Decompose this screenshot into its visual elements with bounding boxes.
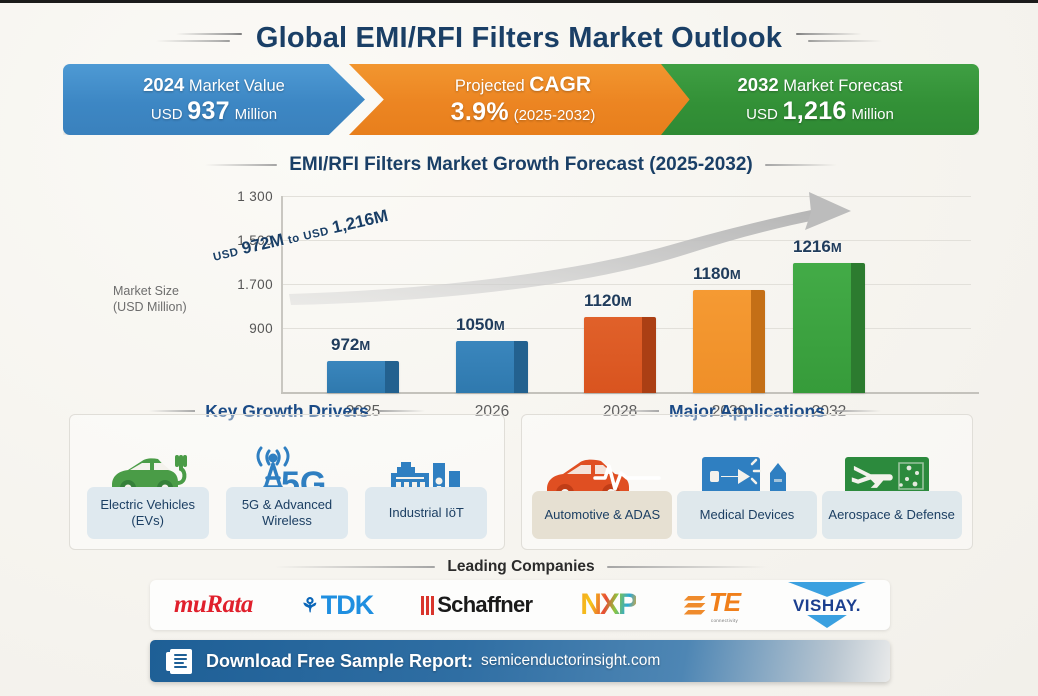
kpi-value-row: USD 937 Million: [151, 98, 277, 124]
tdk-mark-icon: ⚘: [301, 593, 319, 618]
chart-bars: 972M 2025 1050M 2026 1120M: [281, 186, 979, 395]
kpi-heading-rest: Market Forecast: [779, 77, 903, 95]
driver-label-line2: Wireless: [262, 513, 312, 528]
driver-item-5g-wireless[interactable]: 5G 5G & Advanced Wireless: [226, 441, 348, 539]
kpi-heading-prefix: Projected: [455, 77, 529, 95]
te-wordmark: TE: [709, 587, 740, 618]
applications-box: Automotive & ADAS: [521, 414, 973, 550]
kpi-heading: 2032 Market Forecast: [738, 75, 903, 95]
bar-face: [584, 317, 642, 393]
kpi-year: 2024: [143, 74, 184, 95]
panel-rule-right: [379, 410, 425, 412]
bar-value: 1216: [793, 237, 831, 256]
vishay-triangle-top-icon: [788, 582, 866, 597]
te-chevron-icon: [684, 596, 706, 615]
chart-heading-row: EMI/RFI Filters Market Growth Forecast (…: [63, 150, 979, 180]
bar-face: [693, 290, 751, 393]
panels-row: Key Growth Drivers: [63, 398, 979, 550]
leading-companies-heading: Leading Companies: [447, 558, 594, 576]
panel-rule-left: [613, 410, 659, 412]
vishay-logo[interactable]: VISHAY.: [788, 582, 866, 628]
page-title: Global EMI/RFI Filters Market Outlook: [256, 22, 782, 55]
kpi-unit: Million: [235, 106, 278, 123]
company-logo-strip: muRata ⚘ TDK Schaffner NXP TE connectivi…: [150, 580, 890, 630]
driver-label: 5G & Advanced Wireless: [226, 487, 348, 539]
kpi-value: 937: [187, 97, 230, 125]
bar-value: 1050: [456, 315, 494, 334]
kpi-banner: 2024 Market Value USD 937 Million Projec…: [63, 64, 979, 135]
key-growth-drivers-panel: Key Growth Drivers: [63, 398, 511, 550]
application-label-line1: Automotive & ADAS: [545, 507, 661, 523]
nxp-logo[interactable]: NXP: [580, 582, 636, 628]
bar-side: [385, 361, 399, 393]
bar-2032: 1216M 2032: [793, 263, 865, 393]
panel-rule-left: [149, 410, 195, 412]
bar-2030: 1180M 2030: [693, 290, 765, 393]
y-tick-label: 1 300: [201, 189, 273, 204]
application-label: Medical Devices: [677, 491, 817, 539]
tdk-logo[interactable]: ⚘ TDK: [301, 582, 373, 628]
bar-side: [851, 263, 865, 393]
chart-heading-rule-left: [205, 164, 277, 166]
te-subtext: connectivity: [711, 618, 738, 623]
kpi-heading-rest: Market Value: [184, 77, 285, 95]
panel-rule-right: [835, 410, 881, 412]
bar-2025: 972M 2025: [327, 361, 399, 393]
driver-label-line1: Industrial IöT: [389, 505, 464, 521]
bar-side: [642, 317, 656, 393]
application-item-automotive-adas[interactable]: Automotive & ADAS: [532, 445, 672, 539]
application-label: Automotive & ADAS: [532, 491, 672, 539]
kpi-heading: 2024 Market Value: [143, 75, 285, 95]
download-sample-report-cta[interactable]: Download Free Sample Report: semicenduct…: [150, 640, 890, 682]
bar-side: [751, 290, 765, 393]
y-axis-ticks: 1 300 1.500 1.700 900: [195, 186, 273, 395]
te-connectivity-logo[interactable]: TE connectivity: [684, 582, 740, 628]
driver-label: Electric Vehicles (EVs): [87, 487, 209, 539]
bar-face: [456, 341, 514, 393]
application-item-medical-devices[interactable]: Medical Devices: [677, 445, 817, 539]
leading-companies-heading-row: Leading Companies: [63, 556, 979, 578]
cta-url: semicenductorinsight.com: [481, 652, 660, 670]
bar-2026: 1050M 2026: [456, 341, 528, 393]
murata-wordmark: muRata: [174, 591, 253, 619]
driver-item-industrial-iot[interactable]: Industrial IöT: [365, 441, 487, 539]
lc-rule-left: [275, 566, 435, 568]
kpi-card-projected-cagr: Projected CAGR 3.9% (2025-2032): [349, 64, 697, 135]
schaffner-bars-icon: [421, 596, 434, 615]
infographic-canvas: Global EMI/RFI Filters Market Outlook 20…: [0, 0, 1038, 696]
nxp-wordmark: NXP: [580, 588, 636, 622]
cta-label: Download Free Sample Report:: [206, 651, 473, 672]
kpi-card-market-forecast-2032: 2032 Market Forecast USD 1,216 Million: [661, 64, 979, 135]
kpi-unit: (2025-2032): [514, 107, 596, 124]
driver-label: Industrial IöT: [365, 487, 487, 539]
schaffner-logo[interactable]: Schaffner: [421, 582, 532, 628]
application-item-aerospace-defense[interactable]: Aerospace & Defense: [822, 445, 962, 539]
schaffner-wordmark: Schaffner: [437, 592, 532, 618]
kpi-heading-rest: CAGR: [529, 73, 591, 96]
driver-label-line1: Electric Vehicles: [100, 497, 195, 512]
bar-chart-plot: Market Size (USD Million) 1 300 1.500 1.…: [63, 186, 979, 395]
bar-value-label: 1216M: [793, 237, 842, 257]
vishay-wordmark: VISHAY.: [793, 596, 861, 616]
driver-item-electric-vehicles[interactable]: Electric Vehicles (EVs): [87, 441, 209, 539]
application-label-line1: Medical Devices: [700, 507, 795, 523]
driver-label-line1: 5G & Advanced: [242, 497, 332, 512]
title-row: Global EMI/RFI Filters Market Outlook: [0, 16, 1038, 60]
y-tick-label: 900: [201, 321, 273, 336]
kpi-value-row: USD 1,216 Million: [746, 98, 894, 124]
title-rule-right: [796, 31, 882, 45]
kpi-card-market-value-2024: 2024 Market Value USD 937 Million: [63, 64, 365, 135]
bar-face: [793, 263, 851, 393]
bar-2028: 1120M 2028: [584, 317, 656, 393]
kpi-value: 1,216: [783, 97, 847, 125]
vishay-triangle-bottom-icon: [807, 615, 847, 628]
bar-value: 972: [331, 335, 359, 354]
driver-label-line2: (EVs): [131, 513, 164, 528]
kpi-currency: USD: [746, 106, 778, 123]
bar-value-label: 1180M: [693, 264, 741, 284]
application-label-line1: Aerospace & Defense: [828, 507, 954, 523]
title-rule-left: [156, 31, 242, 45]
kpi-heading: Projected CAGR: [455, 74, 591, 96]
growth-drivers-box: Electric Vehicles (EVs): [69, 414, 505, 550]
kpi-unit: Million: [851, 106, 894, 123]
kpi-value: 3.9%: [451, 98, 509, 126]
growth-forecast-chart-card: EMI/RFI Filters Market Growth Forecast (…: [63, 150, 979, 395]
document-icon: [170, 649, 192, 674]
bar-value: 1120: [584, 291, 621, 310]
bar-value-label: 1050M: [456, 315, 505, 335]
chart-heading: EMI/RFI Filters Market Growth Forecast (…: [289, 154, 753, 176]
major-applications-panel: Major Applications: [515, 398, 979, 550]
chart-heading-rule-right: [765, 164, 837, 166]
bar-value: 1180: [693, 264, 730, 283]
kpi-currency: USD: [151, 106, 183, 123]
bar-value-label: 972M: [331, 335, 370, 355]
bar-value-label: 1120M: [584, 291, 632, 311]
lc-rule-right: [607, 566, 767, 568]
tdk-wordmark: TDK: [321, 590, 374, 621]
application-label: Aerospace & Defense: [822, 491, 962, 539]
bar-side: [514, 341, 528, 393]
murata-logo[interactable]: muRata: [174, 582, 253, 628]
kpi-year: 2032: [738, 74, 779, 95]
y-tick-label: 1.700: [201, 277, 273, 292]
kpi-value-row: 3.9% (2025-2032): [451, 99, 596, 125]
bar-face: [327, 361, 385, 393]
